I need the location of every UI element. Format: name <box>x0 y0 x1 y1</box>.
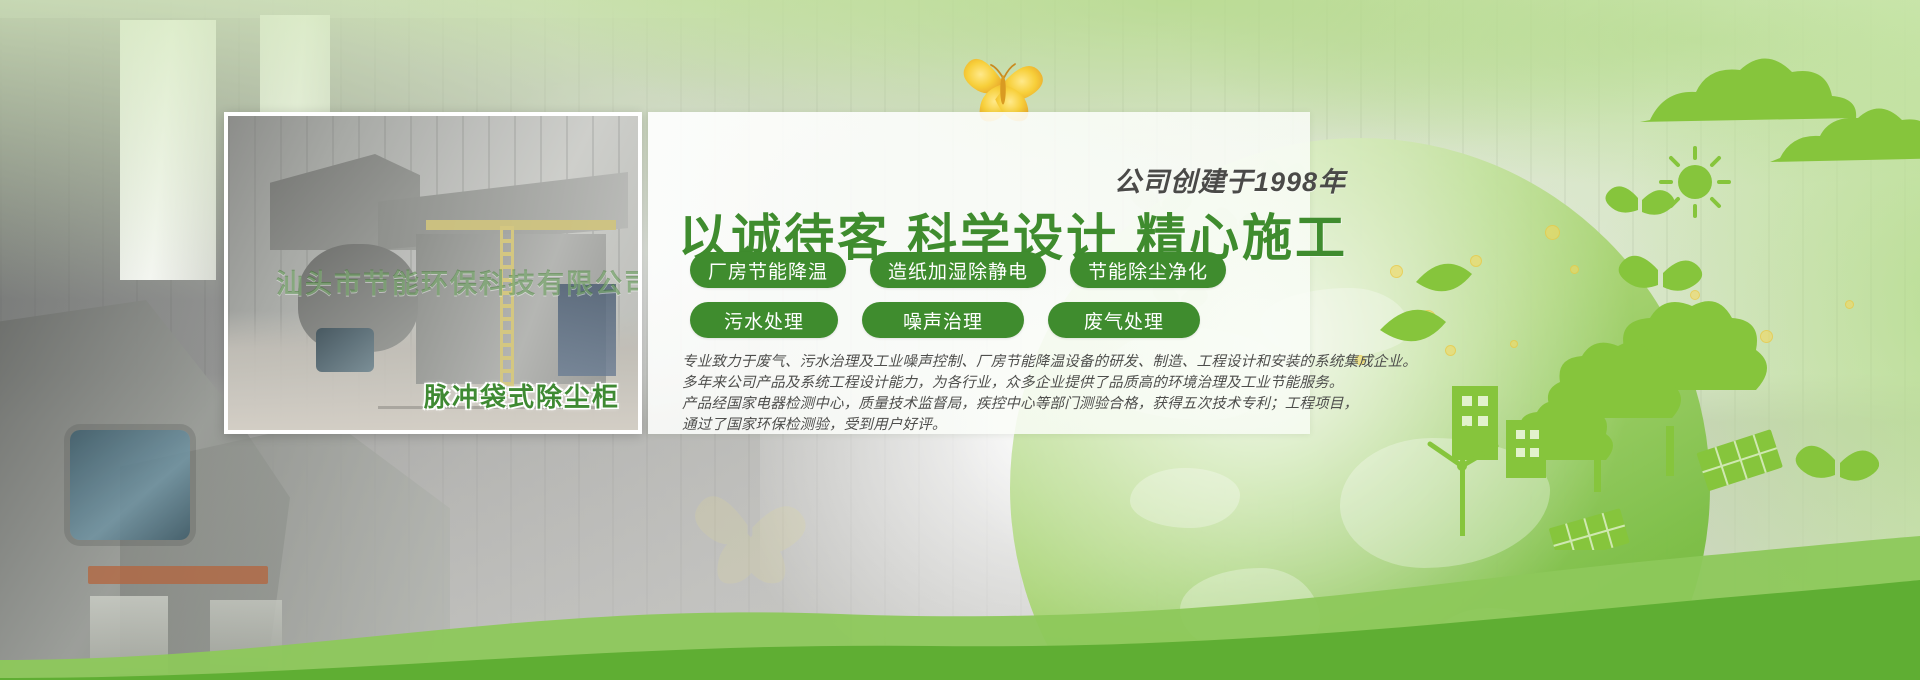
bokeh-dot <box>1760 330 1773 343</box>
bokeh-dot <box>1445 345 1456 356</box>
service-tag-dust-purification[interactable]: 节能除尘净化 <box>1070 252 1226 288</box>
company-description: 专业致力于废气、污水治理及工业噪声控制、厂房节能降温设备的研发、制造、工程设计和… <box>682 352 1322 436</box>
service-tag-list: 厂房节能降温 造纸加湿除静电 节能除尘净化 污水处理 噪声治理 废气处理 <box>690 252 1310 338</box>
bokeh-dot <box>1620 350 1632 362</box>
banner-copy: 公司创建于1998年 以诚待客 科学设计 精心施工 厂房节能降温 造纸加湿除静电… <box>648 112 1328 462</box>
established-label: 公司创建于1998年 <box>1114 160 1346 199</box>
description-line: 专业致力于废气、污水治理及工业噪声控制、厂房节能降温设备的研发、制造、工程设计和… <box>682 352 1322 373</box>
project-photo-card: 汕头市节能环保科技有限公司 脉冲袋式除尘柜 <box>224 112 642 434</box>
bokeh-dot <box>1390 265 1403 278</box>
service-tag-factory-cooling[interactable]: 厂房节能降温 <box>690 252 846 288</box>
service-tag-noise-control[interactable]: 噪声治理 <box>862 302 1024 338</box>
photo-watermark: 汕头市节能环保科技有限公司 <box>276 262 642 301</box>
bottom-wave-decoration <box>0 510 1920 680</box>
bokeh-dot <box>1510 340 1518 348</box>
promo-banner: 汕头市节能环保科技有限公司 脉冲袋式除尘柜 公司创建于1998年 以诚待客 科学… <box>0 0 1920 680</box>
service-tag-paper-humidify[interactable]: 造纸加湿除静电 <box>870 252 1046 288</box>
bokeh-dot <box>1420 310 1436 326</box>
service-tag-sewage-treatment[interactable]: 污水处理 <box>690 302 838 338</box>
service-tag-waste-gas[interactable]: 废气处理 <box>1048 302 1200 338</box>
bokeh-dot <box>1545 225 1560 240</box>
bokeh-dot <box>1690 290 1700 300</box>
bokeh-dot <box>1570 265 1579 274</box>
photo-caption: 脉冲袋式除尘柜 <box>424 377 620 414</box>
description-line: 产品经国家电器检测中心，质量技术监督局，疾控中心等部门测验合格，获得五次技术专利… <box>682 394 1322 415</box>
description-line: 多年来公司产品及系统工程设计能力，为各行业，众多企业提供了品质高的环境治理及工业… <box>682 373 1322 394</box>
description-line: 通过了国家环保检测验，受到用户好评。 <box>682 415 1322 436</box>
bokeh-dot <box>1470 255 1482 267</box>
bokeh-dot <box>1845 300 1854 309</box>
